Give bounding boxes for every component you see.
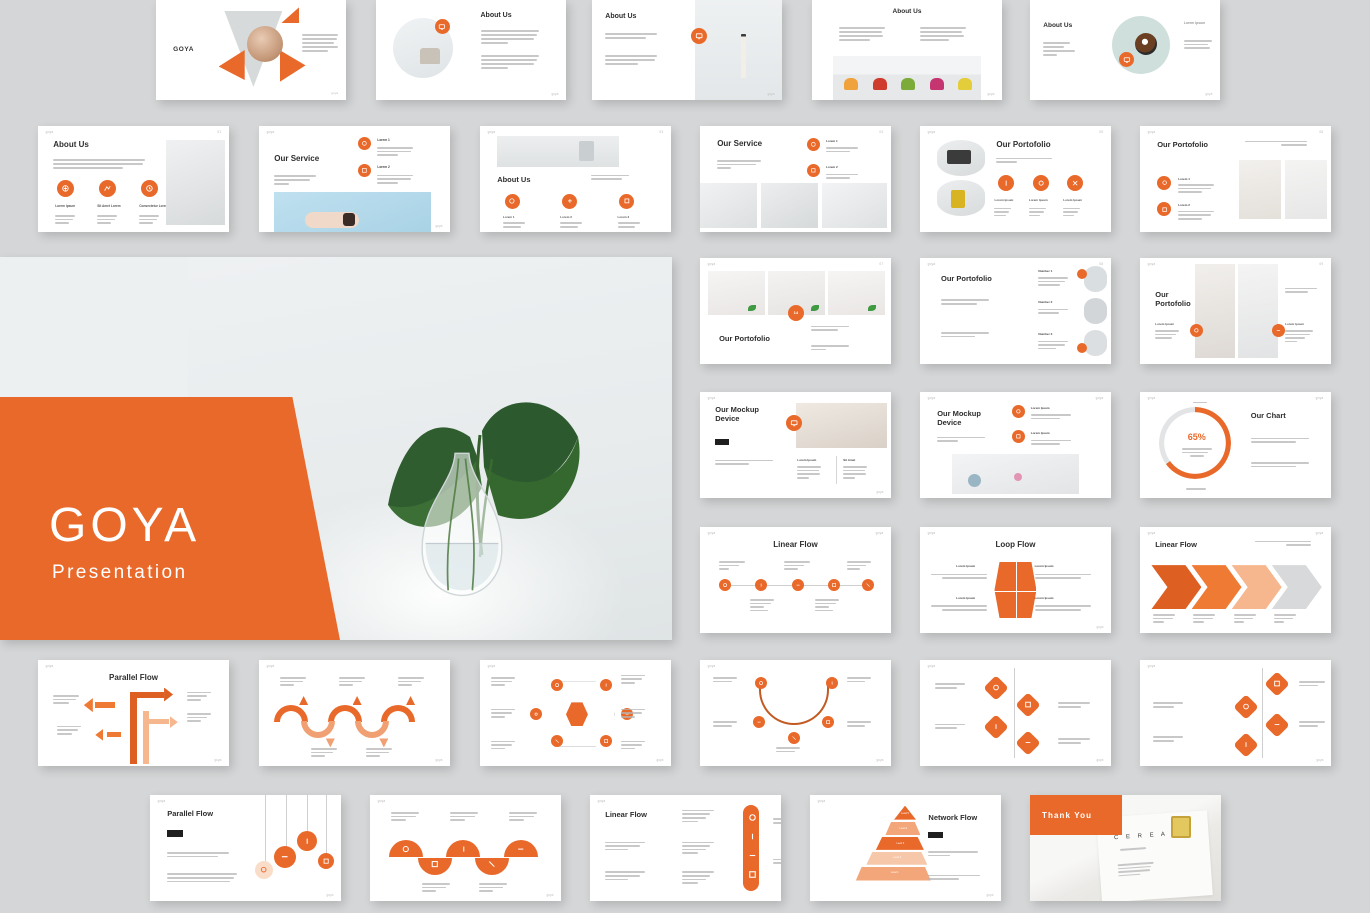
template-preview-board: goya GOYA About Us goya About Us [0, 0, 1370, 913]
body-text [937, 437, 985, 442]
pyramid-label-4: Level 4 [886, 827, 920, 830]
leaf-deco-icon [748, 305, 756, 311]
slide-about-3icons[interactable]: goya 01 About Us Lorem Ipsum Sit Amet Lo… [38, 126, 229, 232]
slide-footer: goya [546, 893, 553, 897]
slide-header-page: 05 [1099, 130, 1103, 134]
slide-header-label: goya [928, 396, 936, 400]
vbar-node-2[interactable] [747, 829, 758, 840]
arc-text-2 [847, 677, 871, 682]
slide-header-label: goya [928, 262, 936, 266]
slide-footer: goya [987, 92, 994, 96]
slide-flow-hexnet[interactable]: goya goya [480, 660, 671, 766]
slide-portfolio-models[interactable]: goya 07 14 Our Portofolio [700, 258, 891, 364]
service-label-2: Lorem 2 [377, 165, 389, 169]
page-title: About Us [481, 12, 512, 19]
service-text-2 [826, 174, 858, 179]
loop-text-4 [1035, 605, 1091, 610]
arc-node-2[interactable] [826, 677, 838, 689]
slide-header-label: goya [267, 664, 275, 668]
split-node-1[interactable] [983, 675, 1008, 700]
body-text [717, 160, 761, 169]
semi-down-2[interactable] [475, 858, 509, 875]
donut-chart [1159, 407, 1231, 479]
monitor-badge-icon [435, 19, 450, 34]
portfolio-label-2: Lorem Ipsum [1029, 198, 1048, 202]
service-label-1: Lorem 1 [377, 138, 389, 142]
side-text [1184, 40, 1212, 49]
split-node-4[interactable] [1016, 730, 1041, 755]
vbar-node-3[interactable] [747, 848, 758, 859]
slide-footer: goya [767, 92, 774, 96]
slide-flow-split-b[interactable]: goya goya [1140, 660, 1331, 766]
body-text-1 [481, 30, 539, 44]
hex-text-1 [491, 677, 515, 686]
flow-text-below-2 [815, 599, 839, 611]
model-photo-3 [828, 271, 885, 316]
body-text-1 [811, 326, 849, 331]
feature-text-1 [503, 222, 525, 227]
vbar-node-1[interactable] [747, 810, 758, 821]
body-text-right [920, 27, 966, 41]
pyramid-label-3: Level 3 [877, 842, 924, 845]
coffee-cup-icon [1135, 33, 1157, 55]
chair-badge-2 [1272, 324, 1285, 337]
desk-photo-2 [761, 183, 818, 228]
arc-node-4[interactable] [822, 716, 834, 728]
thank-you-banner: Thank You [1030, 795, 1122, 835]
chevron-step-1[interactable] [1151, 565, 1201, 609]
slide-header-label: goya [158, 799, 166, 803]
loop-quad-label-4: Lorem Ipsum [1035, 596, 1054, 600]
slide-header-label: goya [1148, 130, 1156, 134]
body-text-1 [941, 299, 989, 304]
slide-header-label: goya [488, 130, 496, 134]
title-rule [167, 830, 183, 837]
slide-thank-you[interactable]: C E R E A L Thank You [1030, 795, 1221, 901]
chevron-caption-2 [1193, 614, 1215, 623]
service-icon-1 [358, 137, 371, 150]
slide-header-label: goya [378, 799, 386, 803]
leaf-deco-2-icon [811, 305, 819, 311]
body-text-2 [167, 873, 237, 882]
chair-text-1 [1155, 330, 1179, 339]
loop-quad-label-3: Lorem Ipsum [956, 596, 975, 600]
slide-about-pencil[interactable]: About Us goya [592, 0, 782, 100]
slide-flow-split-a[interactable]: goya goya [920, 660, 1111, 766]
desk-photo-1 [700, 183, 757, 228]
slide-header-page: 04 [879, 130, 883, 134]
col-text-1 [797, 466, 821, 478]
flow-text-above-2 [784, 561, 810, 570]
slide-header-label: goya [488, 664, 496, 668]
slide-header-label: goya [708, 531, 716, 535]
loop-text-2 [1035, 574, 1091, 579]
monitor-badge-icon [691, 28, 707, 44]
pendant-node-1[interactable] [255, 861, 273, 879]
v-text-right-2 [773, 859, 781, 864]
split-node-1[interactable] [1264, 671, 1289, 696]
feature-icon-3 [141, 180, 158, 197]
page-title: Our Portofolio [1155, 290, 1189, 309]
split-text-left-2 [935, 724, 965, 729]
slide-header-label: goya [1148, 262, 1156, 266]
portfolio-text-3 [1063, 208, 1080, 217]
wave-arc-up-1 [274, 705, 308, 722]
page-title: Our Portofolio [996, 140, 1050, 149]
split-text-left-2 [1153, 736, 1183, 741]
hex-node-4[interactable] [600, 735, 612, 747]
thumb-badge-1 [1077, 269, 1087, 279]
pyramid-label-5: Level 5 [894, 812, 916, 815]
body-text [1255, 541, 1311, 546]
flow-text-below-1 [750, 599, 774, 611]
flow-text-above-3 [847, 561, 871, 570]
body-text [996, 158, 1052, 163]
slide-flow-semicircles[interactable]: goya goya [370, 795, 561, 901]
arc-text-5 [776, 747, 800, 752]
parallel-arrow-head-right-2 [170, 716, 178, 728]
body-text-2 [941, 332, 989, 337]
flow-step-3[interactable] [792, 579, 804, 591]
split-divider [1014, 668, 1015, 757]
body-text [1245, 141, 1307, 146]
slide-portfolio-camera[interactable]: goya 05 Our Portofolio Lorem Ipsum Lorem… [920, 126, 1111, 232]
slide-header-label: goya [1148, 664, 1156, 668]
v-text-mid-2 [682, 842, 714, 854]
workspace-photo [166, 140, 225, 225]
hex-node-1[interactable] [551, 679, 563, 691]
portfolio-icon-1 [1157, 176, 1171, 190]
split-node-4[interactable] [1234, 733, 1259, 758]
feature-icon-2 [99, 180, 116, 197]
v-text-mid-1 [682, 810, 714, 822]
feature-icon-2 [1012, 430, 1025, 443]
veg-2-icon [873, 78, 887, 90]
list-text-3 [1038, 341, 1068, 350]
wave-text-top-2 [339, 677, 365, 686]
slide-header-page: 09 [1319, 262, 1323, 266]
veg-1-icon [844, 78, 858, 90]
split-node-2[interactable] [1016, 692, 1041, 717]
body-text-1 [605, 33, 657, 39]
slide-portfolio-chairs[interactable]: goya 09 Our Portofolio Lorem Ipsum Lorem… [1140, 258, 1331, 364]
slide-parallel-flow-pendant[interactable]: goya Parallel Flow goya [150, 795, 341, 901]
pendant-wire-2 [286, 795, 287, 848]
slide-header-label: goya [1148, 531, 1156, 535]
slide-cover-goya[interactable]: goya GOYA [156, 0, 346, 100]
slide-header-label: goya [928, 531, 936, 535]
slide-linear-flow-dots[interactable]: goya goya Linear Flow [700, 527, 891, 633]
feature-label-2: Lorem 2 [560, 215, 572, 219]
veg-3-icon [901, 78, 915, 90]
slide-our-service-watch[interactable]: goya Our Service Lorem 1 Lorem 2 Lorem 3… [259, 126, 450, 232]
flower-icon [1014, 473, 1022, 481]
slide-header-label: goya [46, 130, 54, 134]
slide-header-label: goya [708, 396, 716, 400]
flow-step-1[interactable] [719, 579, 731, 591]
slide-footer: goya [876, 758, 883, 762]
col-label-1: Lorem Ipsum [797, 458, 816, 462]
page-title: Parallel Flow [109, 673, 158, 682]
slide-our-chart[interactable]: goya goya 65% Our Chart [1140, 392, 1331, 498]
arc-text-1 [713, 677, 737, 682]
split-text-left-1 [1153, 702, 1183, 707]
slide-about-veggies[interactable]: About Us goya [812, 0, 1002, 100]
arc-shape [759, 683, 829, 725]
semi-down-1[interactable] [418, 858, 452, 875]
desk-photo-3 [822, 183, 887, 228]
slide-mockup-sofa[interactable]: goya Our Mockup Device Lorem Ipsum Sit A… [700, 392, 891, 498]
hero-cover-slide[interactable]: GOYA Presentation [0, 257, 672, 640]
slide-header-label: goya [267, 130, 275, 134]
portfolio-icon-3 [1067, 175, 1083, 191]
body-text-right [1285, 288, 1317, 293]
page-title: Our Portofolio [719, 334, 770, 343]
chart-caption [1182, 448, 1212, 457]
arc-text-3 [713, 721, 737, 726]
slide-our-service-grid[interactable]: 04 Our Service Lorem 1 Lorem 2 [700, 126, 891, 232]
slide-linear-flow-vertical[interactable]: goya Linear Flow [590, 795, 781, 901]
slide-header-page: goya [1316, 531, 1324, 535]
slide-footer: goya [986, 893, 993, 897]
sofa-photo [796, 403, 888, 449]
slide-about-device[interactable]: goya 03 About Us Lorem 1 Lorem 2 Lorem 3 [480, 126, 671, 232]
parallel-arrow-left-1 [95, 702, 115, 708]
arc-node-5[interactable] [788, 732, 800, 744]
hex-node-2[interactable] [600, 679, 612, 691]
feature-text-2 [1031, 440, 1071, 445]
page-title: About Us [497, 175, 530, 184]
chair-badge-1 [1190, 324, 1203, 337]
pencil-photo [695, 0, 782, 100]
printer-icon [579, 141, 594, 161]
triangle-orange-top-icon [281, 7, 299, 23]
flow-step-5[interactable] [862, 579, 874, 591]
split-divider [1262, 668, 1263, 757]
split-node-3[interactable] [1264, 712, 1289, 737]
split-text-right-1 [1299, 681, 1325, 686]
portfolio-text-1 [994, 208, 1011, 217]
pendant-wire-3 [307, 795, 308, 833]
service-text-1 [826, 147, 858, 152]
loop-text-1 [931, 574, 987, 579]
page-title: Parallel Flow [167, 809, 213, 818]
feature-icon-1 [1012, 405, 1025, 418]
feature-label-1: Lorem Ipsum [1031, 406, 1050, 410]
chevron-caption-3 [1234, 614, 1256, 623]
chair-text-2 [1285, 330, 1313, 342]
feature-label-3: Consectetur Lorem [139, 204, 168, 208]
camera-icon [947, 150, 971, 164]
feature-text-3 [618, 222, 640, 227]
binder-clip-icon [1171, 816, 1191, 838]
semi-text-bottom-1 [422, 883, 450, 892]
semi-up-3[interactable] [504, 840, 538, 857]
side-label: Lorem Ipsum [1184, 21, 1205, 25]
slide-about-circle[interactable]: About Us goya [376, 0, 566, 100]
pendant-node-4[interactable] [318, 853, 334, 869]
plant-photo-1 [1239, 160, 1281, 219]
slide-loop-flow[interactable]: goya Loop Flow Lorem Ipsum Lorem Ipsum L… [920, 527, 1111, 633]
pendant-wire-4 [326, 795, 327, 854]
hex-text-4 [621, 709, 645, 718]
feature-label-2: Sit Amet Lorem [97, 204, 120, 208]
pyramid-label-1: Level 1 [858, 871, 932, 874]
hex-node-5[interactable] [551, 735, 563, 747]
slide-footer: goya [331, 91, 338, 95]
parallel-arrow-up-right [130, 692, 164, 698]
body-text-2 [605, 55, 657, 65]
page-title: Our Mockup Device [937, 409, 993, 428]
v-text-right-1 [773, 818, 781, 823]
pendant-node-3[interactable] [297, 831, 317, 851]
slide-flow-arc[interactable]: goya goya [700, 660, 891, 766]
split-node-2[interactable] [1234, 694, 1259, 719]
page-title: Our Chart [1251, 411, 1286, 420]
slide-portfolio-plants[interactable]: goya 06 Our Portofolio Lorem 1 Lorem 2 [1140, 126, 1331, 232]
wave-arrow-up-2 [353, 696, 362, 705]
page-title: Linear Flow [1155, 540, 1197, 549]
body-text-2 [928, 875, 980, 880]
slide-header-label: goya [928, 664, 936, 668]
feature-label-3: Lorem 3 [618, 215, 630, 219]
slide-mockup-flatlay[interactable]: goya goya Our Mockup Device Lorem Ipsum … [920, 392, 1111, 498]
feature-text-1 [1031, 414, 1071, 419]
triangle-orange-right-icon [280, 50, 306, 82]
slide-header-page: 08 [1099, 262, 1103, 266]
hero-subtitle: Presentation [52, 562, 187, 584]
slide-footer: goya [1096, 625, 1103, 629]
slide-linear-flow-chevrons[interactable]: goya goya Linear Flow [1140, 527, 1331, 633]
slide-footer: goya [1096, 758, 1103, 762]
semi-up-2[interactable] [446, 840, 480, 857]
thank-you-label: Thank You [1030, 811, 1092, 820]
service-text-1 [377, 147, 413, 156]
loop-divider-h [994, 591, 1036, 592]
hex-text-5 [491, 741, 515, 750]
parallel-trunk-dark [130, 694, 137, 764]
portfolio-text-2 [1178, 211, 1214, 220]
service-icon-1 [807, 138, 820, 151]
body-text-2 [811, 345, 849, 350]
parallel-arrow-right-2 [147, 719, 169, 724]
slide-portfolio-list[interactable]: goya 08 Our Portofolio Number 1 Number 2… [920, 258, 1111, 364]
body-text [302, 34, 338, 52]
parallel-arrow-head-left-1 [84, 698, 93, 712]
device-photo [497, 136, 619, 168]
parallel-text-left-2 [57, 726, 81, 735]
slide-footer: goya [214, 758, 221, 762]
triangle-orange-left-icon [219, 50, 245, 80]
page-title: Our Portofolio [941, 274, 992, 283]
chart-legend-bottom [1186, 488, 1206, 490]
page-title: Our Service [717, 139, 762, 148]
chart-legend-top [1193, 402, 1207, 404]
wave-arc-down-2 [355, 721, 389, 738]
body-text [591, 175, 629, 180]
v-text-left-1 [605, 842, 645, 851]
list-label-1: Number 1 [1038, 269, 1052, 273]
pendant-node-2[interactable] [274, 846, 296, 868]
semi-up-1[interactable] [389, 840, 423, 857]
hero-canvas: GOYA Presentation [0, 257, 672, 640]
slide-flow-waves[interactable]: goya goya [259, 660, 450, 766]
feature-icon-1 [505, 194, 520, 209]
flow-step-4[interactable] [828, 579, 840, 591]
slide-header-label: goya [708, 262, 716, 266]
counter-badge: 14 [788, 305, 804, 321]
hex-node-6[interactable] [530, 708, 542, 720]
feature-text-2 [560, 222, 582, 227]
slide-parallel-flow[interactable]: goya Parallel Flow goya [38, 660, 229, 766]
page-title: Linear Flow [773, 540, 817, 549]
flow-text-above-1 [719, 561, 745, 570]
portfolio-label-2: Lorem 2 [1178, 203, 1190, 207]
loop-quad-label-1: Lorem Ipsum [956, 564, 975, 568]
watch-face-icon [343, 213, 355, 226]
page-title: About Us [53, 140, 89, 149]
slide-footer: goya [1316, 758, 1323, 762]
slide-network-flow-pyramid[interactable]: goya Level 5 Level 4 Level 3 Level 2 Lev… [810, 795, 1001, 901]
wave-arrow-up-3 [406, 696, 415, 705]
v-text-mid-3 [682, 871, 714, 883]
body-text-2 [1251, 462, 1309, 467]
slide-header-label: goya [46, 664, 54, 668]
cereal-body [1117, 862, 1154, 877]
slide-footer: goya [551, 92, 558, 96]
chair-label-2: Lorem Ipsum [1285, 322, 1304, 326]
list-label-2: Number 2 [1038, 300, 1052, 304]
arc-node-3[interactable] [753, 716, 765, 728]
split-node-3[interactable] [983, 715, 1008, 740]
page-title: Loop Flow [996, 540, 1036, 549]
slide-header-page: goya [876, 531, 884, 535]
slide-header-page: 01 [217, 130, 221, 134]
wave-arrow-down-1 [326, 738, 335, 747]
body-text [1043, 42, 1077, 56]
slide-header-label: goya [1148, 396, 1156, 400]
model-photo-1 [708, 271, 765, 316]
hex-text-2 [621, 675, 645, 684]
service-icon-2 [358, 164, 371, 177]
service-icon-2 [807, 164, 820, 177]
list-label-3: Number 3 [1038, 332, 1052, 336]
slide-header-label: goya [708, 664, 716, 668]
slide-header-label: goya [818, 799, 826, 803]
split-text-right-2 [1058, 738, 1090, 743]
vbar-node-4[interactable] [747, 867, 758, 878]
slide-footer: goya [435, 224, 442, 228]
wave-arrow-down-2 [379, 738, 388, 747]
semi-text-top-3 [509, 812, 537, 821]
body-text [53, 159, 145, 169]
service-label-1: Lorem 1 [826, 139, 838, 143]
feature-text-1 [55, 215, 75, 224]
veg-5-icon [958, 78, 972, 90]
page-title: About Us [605, 13, 636, 20]
body-text-1 [1251, 438, 1309, 443]
flow-step-2[interactable] [755, 579, 767, 591]
pendant-wire-1 [265, 795, 266, 861]
loop-text-3 [931, 605, 987, 610]
glass-vase-illustration [410, 452, 514, 602]
hex-text-3 [491, 709, 515, 718]
list-text-2 [1038, 309, 1068, 314]
thumb-photo-3 [1084, 330, 1107, 355]
slide-footer: goya [656, 758, 663, 762]
feature-text-2 [97, 215, 117, 224]
slide-about-coffee[interactable]: About Us Lorem Ipsum goya [1030, 0, 1220, 100]
